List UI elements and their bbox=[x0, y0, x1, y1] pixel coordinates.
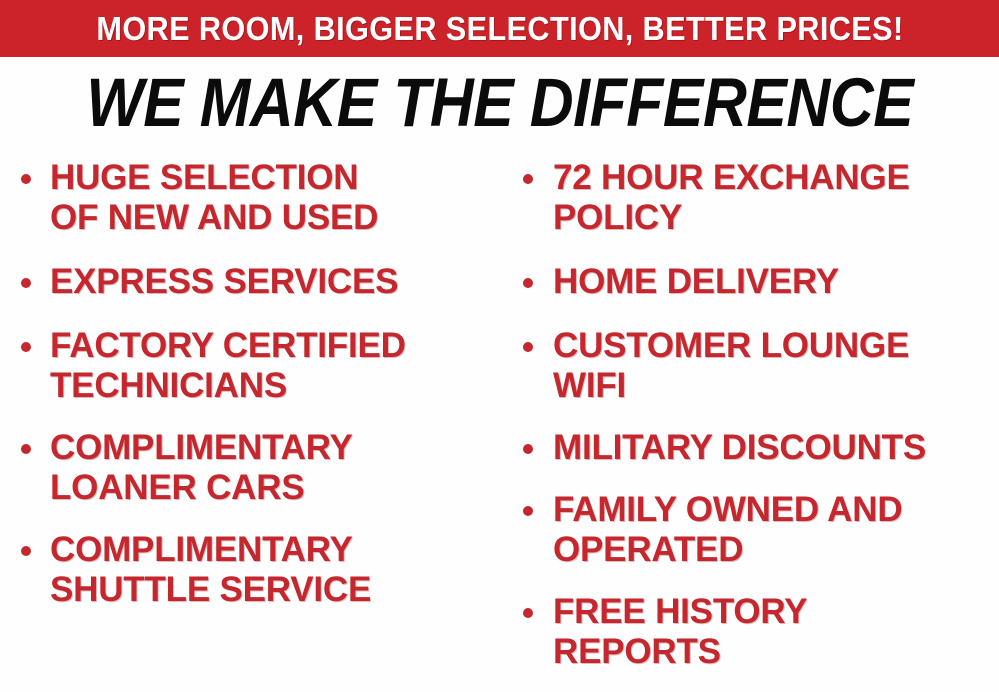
bullet-dot-icon bbox=[523, 342, 533, 352]
benefit-label: FREE HISTORY REPORTS bbox=[553, 592, 999, 672]
bullet-dot-icon bbox=[523, 278, 533, 288]
benefit-list-left: HUGE SELECTION OF NEW AND USED EXPRESS S… bbox=[14, 158, 484, 610]
list-item: EXPRESS SERVICES bbox=[14, 262, 484, 302]
bullet-dot-icon bbox=[21, 278, 31, 288]
list-item: COMPLIMENTARY SHUTTLE SERVICE bbox=[14, 530, 484, 610]
benefit-label: HUGE SELECTION OF NEW AND USED bbox=[50, 158, 484, 238]
benefit-label: MILITARY DISCOUNTS bbox=[553, 428, 999, 468]
list-item: HOME DELIVERY bbox=[515, 262, 999, 302]
benefit-label: COMPLIMENTARY SHUTTLE SERVICE bbox=[50, 530, 484, 610]
bullet-dot-icon bbox=[523, 174, 533, 184]
list-item: FAMILY OWNED AND OPERATED bbox=[515, 490, 999, 570]
benefit-label: CUSTOMER LOUNGE WIFI bbox=[553, 326, 999, 406]
benefit-label: EXPRESS SERVICES bbox=[50, 262, 484, 302]
list-item: HUGE SELECTION OF NEW AND USED bbox=[14, 158, 484, 238]
bullet-dot-icon bbox=[523, 608, 533, 618]
list-item: MILITARY DISCOUNTS bbox=[515, 428, 999, 468]
list-item: 72 HOUR EXCHANGE POLICY bbox=[515, 158, 999, 238]
bullet-dot-icon bbox=[21, 174, 31, 184]
headline-block: WE MAKE THE DIFFERENCE bbox=[0, 68, 999, 137]
benefits-columns: HUGE SELECTION OF NEW AND USED EXPRESS S… bbox=[0, 158, 999, 692]
dealership-promo-poster: MORE ROOM, BIGGER SELECTION, BETTER PRIC… bbox=[0, 0, 999, 692]
list-item: COMPLIMENTARY LOANER CARS bbox=[14, 428, 484, 508]
bullet-dot-icon bbox=[21, 342, 31, 352]
bullet-dot-icon bbox=[523, 506, 533, 516]
benefits-column-right: 72 HOUR EXCHANGE POLICY HOME DELIVERY CU… bbox=[515, 158, 999, 692]
bullet-dot-icon bbox=[21, 546, 31, 556]
promo-banner-text: MORE ROOM, BIGGER SELECTION, BETTER PRIC… bbox=[96, 12, 903, 45]
list-item: FACTORY CERTIFIED TECHNICIANS bbox=[14, 326, 484, 406]
benefit-label: FACTORY CERTIFIED TECHNICIANS bbox=[50, 326, 484, 406]
benefit-list-right: 72 HOUR EXCHANGE POLICY HOME DELIVERY CU… bbox=[515, 158, 999, 672]
benefit-label: 72 HOUR EXCHANGE POLICY bbox=[553, 158, 999, 238]
bullet-dot-icon bbox=[21, 444, 31, 454]
list-item: FREE HISTORY REPORTS bbox=[515, 592, 999, 672]
benefit-label: FAMILY OWNED AND OPERATED bbox=[553, 490, 999, 570]
benefits-column-left: HUGE SELECTION OF NEW AND USED EXPRESS S… bbox=[14, 158, 484, 631]
page-title: WE MAKE THE DIFFERENCE bbox=[86, 68, 913, 137]
benefit-label: COMPLIMENTARY LOANER CARS bbox=[50, 428, 484, 508]
top-promo-banner: MORE ROOM, BIGGER SELECTION, BETTER PRIC… bbox=[0, 0, 999, 57]
bullet-dot-icon bbox=[523, 444, 533, 454]
benefit-label: HOME DELIVERY bbox=[553, 262, 999, 302]
list-item: CUSTOMER LOUNGE WIFI bbox=[515, 326, 999, 406]
